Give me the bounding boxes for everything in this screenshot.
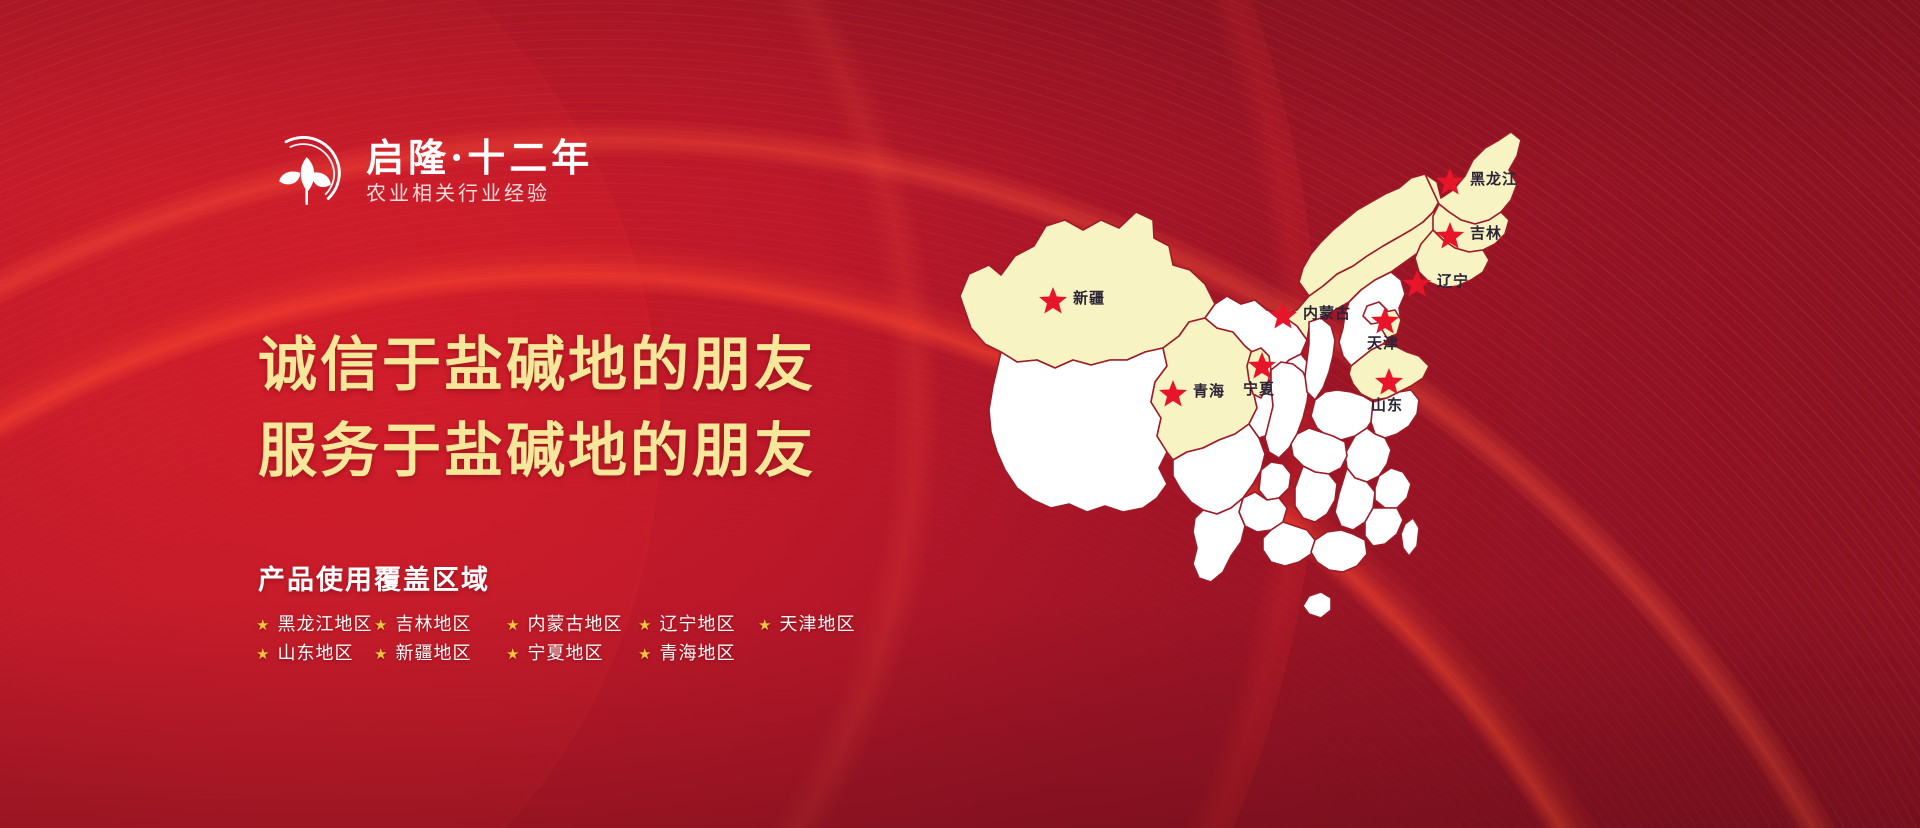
province-hainan (1303, 592, 1331, 618)
china-map-svg: 黑龙江 吉林 辽宁 内蒙古 天津 (905, 60, 1605, 740)
brand-subtitle: 农业相关行业经验 (366, 181, 593, 205)
region-label: 内蒙古地区 (527, 616, 622, 634)
map-marker-label: 新疆 (1073, 289, 1105, 307)
list-item: ★ 内蒙古地区 (506, 616, 638, 634)
map-marker-label: 山东 (1371, 396, 1403, 414)
map-marker-label: 内蒙古 (1303, 304, 1351, 322)
province-tibet (989, 348, 1167, 512)
slogan-block: 诚信于盐碱地的朋友 服务于盐碱地的朋友 (258, 322, 816, 494)
content-column: 启隆·十二年 农业相关行业经验 诚信于盐碱地的朋友 服务于盐碱地的朋友 产品使用… (0, 0, 900, 828)
brand-title: 启隆·十二年 (366, 137, 593, 180)
leaf-sprout-emblem-icon (262, 128, 348, 214)
star-icon: ★ (506, 647, 519, 662)
star-icon: ★ (638, 618, 651, 633)
list-item: ★ 吉林地区 (374, 616, 506, 634)
star-icon: ★ (758, 618, 771, 633)
province-hunan (1295, 466, 1337, 522)
coverage-section-title: 产品使用覆盖区域 (258, 558, 490, 597)
brand-logo-block: 启隆·十二年 农业相关行业经验 (262, 128, 593, 214)
map-marker-label: 宁夏 (1243, 380, 1275, 398)
province-shanxi (1305, 318, 1335, 400)
slogan-line-2: 服务于盐碱地的朋友 (258, 408, 816, 494)
list-item: ★ 天津地区 (758, 616, 876, 634)
list-item: ★ 黑龙江地区 (256, 616, 374, 634)
star-icon: ★ (638, 647, 651, 662)
slogan-line-1: 诚信于盐碱地的朋友 (258, 322, 816, 408)
promo-banner: 启隆·十二年 农业相关行业经验 诚信于盐碱地的朋友 服务于盐碱地的朋友 产品使用… (0, 0, 1920, 828)
province-guangdong (1311, 530, 1367, 572)
star-icon: ★ (374, 618, 387, 633)
region-label: 山东地区 (277, 645, 353, 663)
province-chongqing (1259, 462, 1291, 500)
china-coverage-map: 黑龙江 吉林 辽宁 内蒙古 天津 (905, 60, 1605, 740)
map-marker-label: 青海 (1193, 382, 1225, 400)
map-marker-label: 辽宁 (1437, 272, 1469, 290)
region-label: 天津地区 (779, 616, 855, 634)
list-item: ★ 青海地区 (638, 645, 758, 663)
region-label: 吉林地区 (395, 616, 471, 634)
star-icon: ★ (506, 618, 519, 633)
list-item: ★ 新疆地区 (374, 645, 506, 663)
map-marker-label: 吉林 (1470, 224, 1502, 242)
map-marker-label: 黑龙江 (1470, 170, 1518, 188)
list-item: ★ 山东地区 (256, 645, 374, 663)
list-item: ★ 宁夏地区 (506, 645, 638, 663)
region-label: 宁夏地区 (527, 645, 603, 663)
brand-text: 启隆·十二年 农业相关行业经验 (366, 137, 593, 206)
star-icon: ★ (256, 647, 269, 662)
region-label: 青海地区 (659, 645, 735, 663)
star-icon: ★ (256, 618, 269, 633)
province-fujian (1365, 508, 1403, 546)
region-label: 黑龙江地区 (277, 616, 372, 634)
map-marker-label: 天津 (1367, 334, 1399, 352)
list-item: ★ 辽宁地区 (638, 616, 758, 634)
region-label: 新疆地区 (395, 645, 471, 663)
coverage-region-list: ★ 黑龙江地区 ★ 吉林地区 ★ 内蒙古地区 ★ 辽宁地区 ★ 天津地区 ★ 山… (256, 616, 876, 663)
star-icon: ★ (374, 647, 387, 662)
province-taiwan (1401, 518, 1419, 556)
region-label: 辽宁地区 (659, 616, 735, 634)
